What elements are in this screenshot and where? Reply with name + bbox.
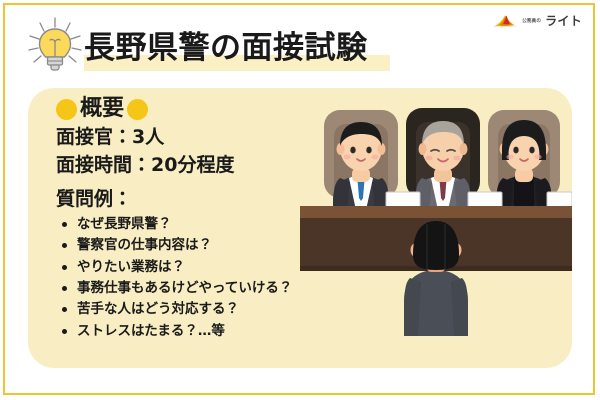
- questions-list: なぜ長野県警？ 警察官の仕事内容は？ やりたい業務は？ 事務仕事もあるけどやって…: [56, 214, 324, 342]
- list-item: 事務仕事もあるけどやっていける？: [56, 278, 324, 299]
- list-item: ストレスはたまる？…等: [56, 321, 324, 342]
- overview-heading-text: 概要: [80, 98, 124, 120]
- overview-line-interviewers: 面接官：3人: [56, 124, 324, 152]
- list-item: 警察官の仕事内容は？: [56, 235, 324, 256]
- slide-root: 長野県警の面接試験 公務員の ライト 概要 面接官：3人 面接時間：20分程度 …: [0, 0, 600, 400]
- dot-left-icon: [56, 99, 77, 120]
- lightbulb-icon: [24, 14, 86, 76]
- content-card: 概要 面接官：3人 面接時間：20分程度 質問例： なぜ長野県警？ 警察官の仕事…: [28, 88, 572, 368]
- slide-header: 長野県警の面接試験 公務員の ライト: [0, 0, 600, 88]
- mountain-logo-icon: [492, 13, 518, 29]
- list-item: やりたい業務は？: [56, 257, 324, 278]
- page-title: 長野県警の面接試験: [84, 22, 368, 74]
- brand-logo: 公務員の ライト: [492, 12, 582, 29]
- list-item: なぜ長野県警？: [56, 214, 324, 235]
- questions-label: 質問例：: [56, 188, 324, 211]
- list-item: 苦手な人はどう対応する？: [56, 299, 324, 320]
- logo-main-text: ライト: [545, 12, 582, 29]
- dot-right-icon: [127, 99, 148, 120]
- logo-small-text: 公務員の: [522, 18, 541, 24]
- text-column: 概要 面接官：3人 面接時間：20分程度 質問例： なぜ長野県警？ 警察官の仕事…: [56, 98, 324, 342]
- overview-line-duration: 面接時間：20分程度: [56, 152, 324, 180]
- interview-panel-illustration: [300, 88, 572, 368]
- title-text: 長野県警の面接試験: [84, 33, 368, 64]
- overview-heading: 概要: [56, 98, 324, 120]
